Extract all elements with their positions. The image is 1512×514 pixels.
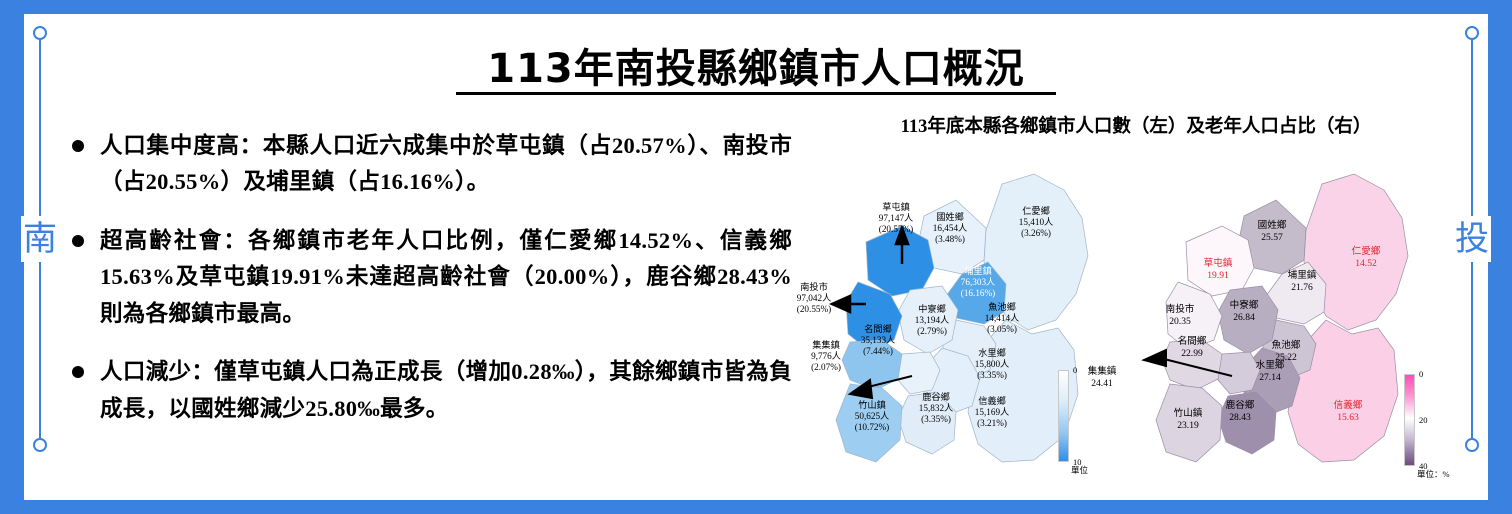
bullet-list: 人口集中度高：本縣人口近六成集中於草屯鎮（占20.57%）、南投市（占20.55… (72, 128, 792, 449)
maps-wrapper: 草屯鎮 97,147人 (20.57%) 南投市 97,042人 (20.55%… (806, 144, 1486, 474)
bullet-text: 超高齡社會：各鄉鎮市老年人口比例，僅仁愛鄉14.52%、信義鄉15.63%及草屯… (100, 223, 792, 332)
map-label-guoxing: 國姓鄉 16,454人 (3.48%) (933, 212, 967, 246)
rail-dot-bottom-icon (33, 438, 47, 452)
colorbar-unit-label: 單位：% (1417, 468, 1450, 480)
map-value-mingjian: 名間鄉 22.99 (1178, 336, 1207, 359)
map-value-xinyi: 信義鄉 15.63 (1334, 400, 1363, 423)
list-item: 超高齡社會：各鄉鎮市老年人口比例，僅仁愛鄉14.52%、信義鄉15.63%及草屯… (72, 223, 792, 332)
bullet-text: 人口減少：僅草屯鎮人口為正成長（增加0.28‰），其餘鄉鎮市皆為負成長，以國姓鄉… (100, 354, 792, 427)
colorbar-unit-label: 單位 (1071, 464, 1088, 476)
poster-root: 南 投 113年南投縣鄉鎮市人口概況 人口集中度高：本縣人口近六成集中於草屯鎮（… (0, 0, 1512, 514)
colorbar-tick-mid: 20 (1419, 415, 1428, 425)
map-value-nantou: 南投市 20.35 (1166, 304, 1195, 327)
map-value-jiji: 集集鎮 24.41 (1088, 366, 1117, 389)
bullet-dot-icon (72, 235, 84, 247)
map-label-lugu: 鹿谷鄉 15,832人 (3.35%) (919, 392, 953, 426)
page-title: 113年南投縣鄉鎮市人口概況 (0, 36, 1512, 94)
map-label-zhushan: 竹山鎮 50,625人 (10.72%) (855, 400, 889, 434)
bullet-text: 人口集中度高：本縣人口近六成集中於草屯鎮（占20.57%）、南投市（占20.55… (100, 128, 792, 201)
map-value-zhushan: 竹山鎮 23.19 (1174, 408, 1203, 431)
map-caption: 113年底本縣各鄉鎮市人口數（左）及老年人口占比（右） (806, 112, 1466, 138)
map-label-puli: 埔里鎮 76,303人 (16.16%) (961, 266, 995, 300)
map-value-yuchi: 魚池鄉 25.22 (1272, 340, 1301, 363)
map-value-lugu: 鹿谷鄉 28.43 (1226, 400, 1255, 423)
map-value-zhongliao: 中寮鄉 26.84 (1230, 300, 1259, 323)
side-char-left: 南 (21, 216, 59, 262)
map-value-renai: 仁愛鄉 14.52 (1352, 246, 1381, 269)
bullet-dot-icon (72, 366, 84, 378)
map-figure: 113年底本縣各鄉鎮市人口數（左）及老年人口占比（右） (806, 112, 1486, 474)
map-value-guoxing: 國姓鄉 25.57 (1258, 220, 1287, 243)
colorbar-tick-top: 0 (1419, 369, 1423, 379)
title-underline (456, 92, 1056, 95)
colorbar-tick-top: 0 (1073, 365, 1077, 375)
list-item: 人口減少：僅草屯鎮人口為正成長（增加0.28‰），其餘鄉鎮市皆為負成長，以國姓鄉… (72, 354, 792, 427)
map-label-caotun: 草屯鎮 97,147人 (20.57%) (879, 202, 913, 236)
map-label-jiji: 集集鎮 9,776人 (2.07%) (811, 340, 841, 374)
map-value-puli: 埔里鎮 21.76 (1288, 270, 1317, 293)
map-label-mingjian: 名間鄉 35,133人 (7.44%) (861, 324, 895, 358)
colorbar-gradient-blue (1058, 370, 1069, 462)
map-label-shuili: 水里鄉 15,800人 (3.35%) (975, 348, 1009, 382)
map-value-caotun: 草屯鎮 19.91 (1204, 258, 1233, 281)
map-value-shuili: 水里鄉 27.14 (1256, 360, 1285, 383)
map-label-zhongliao: 中寮鄉 13,194人 (2.79%) (915, 304, 949, 338)
map-label-nantou: 南投市 97,042人 (20.55%) (797, 282, 831, 316)
bullet-dot-icon (72, 140, 84, 152)
map-label-renai: 仁愛鄉 15,410人 (3.26%) (1019, 206, 1053, 240)
map-label-xinyi: 信義鄉 15,169人 (3.21%) (975, 396, 1009, 430)
map-label-yuchi: 魚池鄉 14,414人 (3.05%) (985, 302, 1019, 336)
colorbar-gradient-pink (1404, 374, 1415, 466)
list-item: 人口集中度高：本縣人口近六成集中於草屯鎮（占20.57%）、南投市（占20.55… (72, 128, 792, 201)
